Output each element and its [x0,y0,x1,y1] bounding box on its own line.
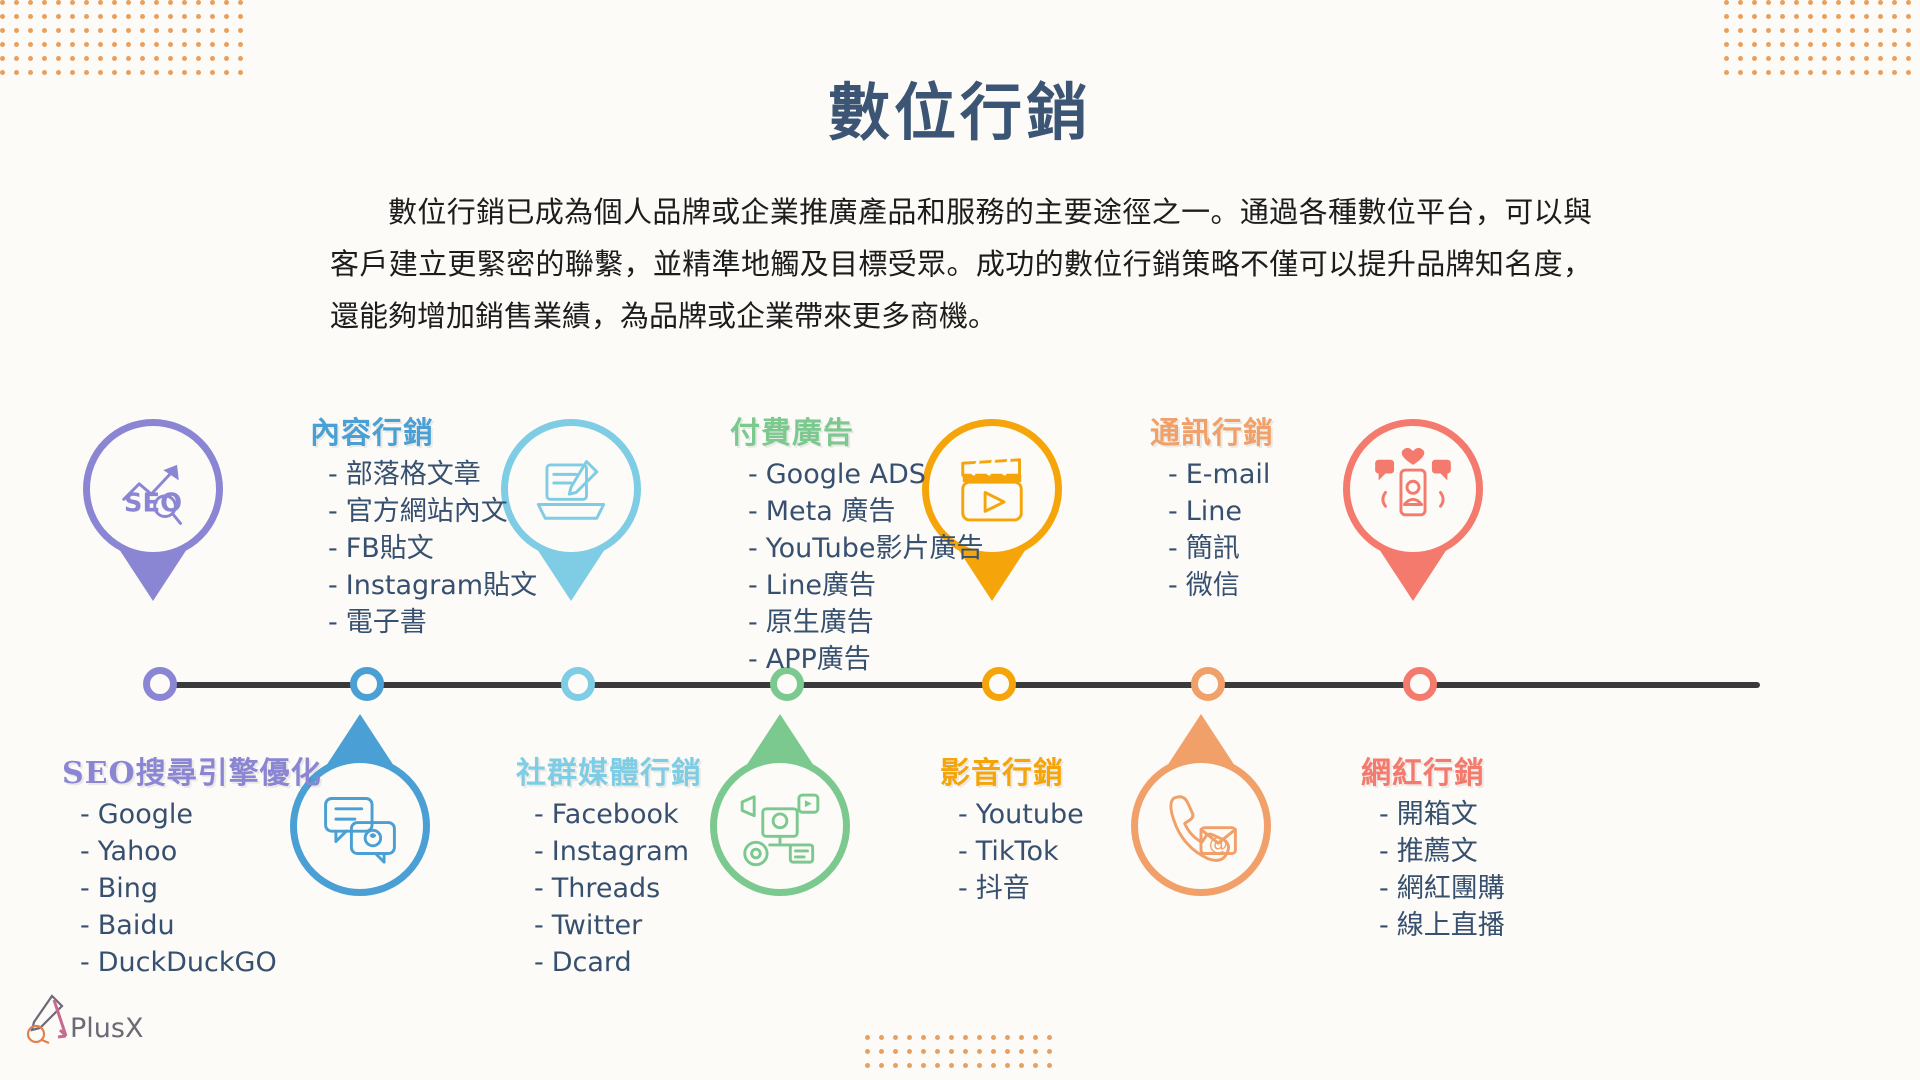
list-item-label: Youtube [976,799,1084,830]
list-item: -抖音 [958,870,1084,907]
list-item: -簡訊 [1168,530,1274,567]
list-item-label: Instagram [552,836,689,867]
list-item: -Twitter [534,907,702,944]
bullet-dash: - [958,799,968,830]
list-item-label: Instagram貼文 [346,570,537,601]
list-item: -Meta 廣告 [748,493,984,530]
svg-text:@: @ [1209,833,1228,855]
mobile-heart-icon [1343,419,1483,559]
timeline-node-seo[interactable] [143,667,177,701]
section-list-paid: -Google ADS-Meta 廣告-YouTube影片廣告-Line廣告-原… [730,456,984,678]
list-item-label: 抖音 [976,873,1030,904]
list-item-label: 微信 [1186,570,1240,601]
list-item-label: Threads [552,873,660,904]
bullet-dash: - [80,947,90,978]
bullet-dash: - [534,947,544,978]
section-heading-kol: 網紅行銷 [1355,748,1505,792]
list-item: -推薦文 [1379,833,1505,870]
list-item-label: 線上直播 [1397,910,1505,941]
list-item-label: Google ADS [766,459,926,490]
section-heading-seo: SEO搜尋引擎優化 [40,748,322,792]
list-item: -E-mail [1168,456,1274,493]
bullet-dash: - [748,459,758,490]
list-item-label: Line [1186,496,1242,527]
list-item: -Dcard [534,944,702,981]
list-item: -原生廣告 [748,604,984,641]
list-item: -TikTok [958,833,1084,870]
seo-chart-icon: SEO [83,419,223,559]
bullet-dash: - [80,799,90,830]
list-item: -Instagram貼文 [328,567,537,604]
list-item-label: FB貼文 [346,533,434,564]
bullet-dash: - [958,836,968,867]
section-heading-video: 影音行銷 [940,748,1084,792]
list-item-label: Facebook [552,799,679,830]
list-item-label: Dcard [552,947,632,978]
list-item-label: TikTok [976,836,1059,867]
timeline-node-message[interactable] [1191,667,1225,701]
bullet-dash: - [328,533,338,564]
timeline-pin-message[interactable]: @ [1131,756,1271,896]
list-item: -Baidu [80,907,322,944]
timeline-axis [160,682,1760,688]
list-item-label: 推薦文 [1397,836,1478,867]
list-item-label: 部落格文章 [346,459,481,490]
section-list-video: -Youtube-TikTok-抖音 [940,796,1084,907]
list-item-label: 簡訊 [1186,533,1240,564]
list-item-label: 官方網站內文 [346,496,508,527]
list-item-label: Yahoo [98,836,177,867]
section-seo: SEO搜尋引擎優化-Google-Yahoo-Bing-Baidu-DuckDu… [40,748,322,981]
list-item: -Youtube [958,796,1084,833]
section-heading-paid: 付費廣告 [730,408,984,452]
timeline-pin-paid[interactable] [710,756,850,896]
bullet-dash: - [1379,873,1389,904]
list-item-label: Bing [98,873,158,904]
section-heading-social: 社群媒體行銷 [500,748,702,792]
bullet-dash: - [328,496,338,527]
list-item: -Threads [534,870,702,907]
section-list-social: -Facebook-Instagram-Threads-Twitter-Dcar… [500,796,702,981]
list-item: -Line [1168,493,1274,530]
timeline-pin-seo[interactable]: SEO [83,419,223,559]
list-item: -官方網站內文 [328,493,537,530]
bullet-dash: - [748,607,758,638]
list-item-label: Google [98,799,193,830]
list-item: -DuckDuckGO [80,944,322,981]
list-item-label: 電子書 [346,607,427,638]
list-item-label: APP廣告 [766,644,871,675]
list-item: -FB貼文 [328,530,537,567]
plusx-logo: PlusX [22,990,143,1044]
section-list-message: -E-mail-Line-簡訊-微信 [1150,456,1274,604]
bullet-dash: - [534,910,544,941]
timeline-node-video[interactable] [982,667,1016,701]
list-item: -Line廣告 [748,567,984,604]
phone-envelope-icon: @ [1131,756,1271,896]
bullet-dash: - [1168,459,1178,490]
list-item-label: YouTube影片廣告 [766,533,984,564]
section-message: 通訊行銷-E-mail-Line-簡訊-微信 [1150,408,1274,604]
bullet-dash: - [1168,496,1178,527]
section-content: 內容行銷-部落格文章-官方網站內文-FB貼文-Instagram貼文-電子書 [310,408,537,641]
list-item: -YouTube影片廣告 [748,530,984,567]
list-item-label: Twitter [552,910,643,941]
bullet-dash: - [328,459,338,490]
bullet-dash: - [748,533,758,564]
bullet-dash: - [1379,910,1389,941]
list-item: -Google ADS [748,456,984,493]
bullet-dash: - [748,644,758,675]
bullet-dash: - [534,799,544,830]
timeline-pin-kol[interactable] [1343,419,1483,559]
list-item-label: Meta 廣告 [766,496,896,527]
intro-paragraph: 數位行銷已成為個人品牌或企業推廣產品和服務的主要途徑之一。通過各種數位平台，可以… [330,186,1592,342]
list-item: -Google [80,796,322,833]
bullet-dash: - [534,836,544,867]
bullet-dash: - [328,607,338,638]
bullet-dash: - [80,873,90,904]
list-item: -開箱文 [1379,796,1505,833]
bullet-dash: - [534,873,544,904]
section-heading-content: 內容行銷 [310,408,537,452]
timeline-node-social[interactable] [561,667,595,701]
bullet-dash: - [748,570,758,601]
list-item-label: E-mail [1186,459,1271,490]
list-item: -微信 [1168,567,1274,604]
infographic-canvas: 數位行銷 數位行銷已成為個人品牌或企業推廣產品和服務的主要途徑之一。通過各種數位… [0,0,1920,1080]
section-heading-message: 通訊行銷 [1150,408,1274,452]
section-paid: 付費廣告-Google ADS-Meta 廣告-YouTube影片廣告-Line… [730,408,984,678]
bullet-dash: - [80,910,90,941]
list-item-label: Line廣告 [766,570,876,601]
list-item-label: 原生廣告 [766,607,874,638]
bullet-dash: - [958,873,968,904]
bullet-dash: - [328,570,338,601]
list-item: -Yahoo [80,833,322,870]
list-item-label: Baidu [98,910,175,941]
list-item: -APP廣告 [748,641,984,678]
section-list-kol: -開箱文-推薦文-網紅團購-線上直播 [1355,796,1505,944]
plusx-logo-text: PlusX [70,1013,143,1044]
plusx-logo-icon [22,990,68,1044]
timeline-node-content[interactable] [350,667,384,701]
list-item: -Facebook [534,796,702,833]
section-social: 社群媒體行銷-Facebook-Instagram-Threads-Twitte… [500,748,702,981]
list-item: -網紅團購 [1379,870,1505,907]
list-item: -Instagram [534,833,702,870]
bullet-dash: - [748,496,758,527]
section-list-content: -部落格文章-官方網站內文-FB貼文-Instagram貼文-電子書 [310,456,537,641]
bullet-dash: - [1379,799,1389,830]
bullet-dash: - [1379,836,1389,867]
list-item: -Bing [80,870,322,907]
section-kol: 網紅行銷-開箱文-推薦文-網紅團購-線上直播 [1355,748,1505,944]
timeline-node-kol[interactable] [1403,667,1437,701]
list-item-label: 網紅團購 [1397,873,1505,904]
list-item-label: DuckDuckGO [98,947,277,978]
list-item: -電子書 [328,604,537,641]
dot-grid-bottom [865,1035,1061,1077]
section-list-seo: -Google-Yahoo-Bing-Baidu-DuckDuckGO [40,796,322,981]
list-item: -部落格文章 [328,456,537,493]
bullet-dash: - [80,836,90,867]
bullet-dash: - [1168,533,1178,564]
page-title: 數位行銷 [0,62,1920,152]
bullet-dash: - [1168,570,1178,601]
list-item: -線上直播 [1379,907,1505,944]
section-video: 影音行銷-Youtube-TikTok-抖音 [940,748,1084,907]
megaphone-screen-icon [710,756,850,896]
list-item-label: 開箱文 [1397,799,1478,830]
